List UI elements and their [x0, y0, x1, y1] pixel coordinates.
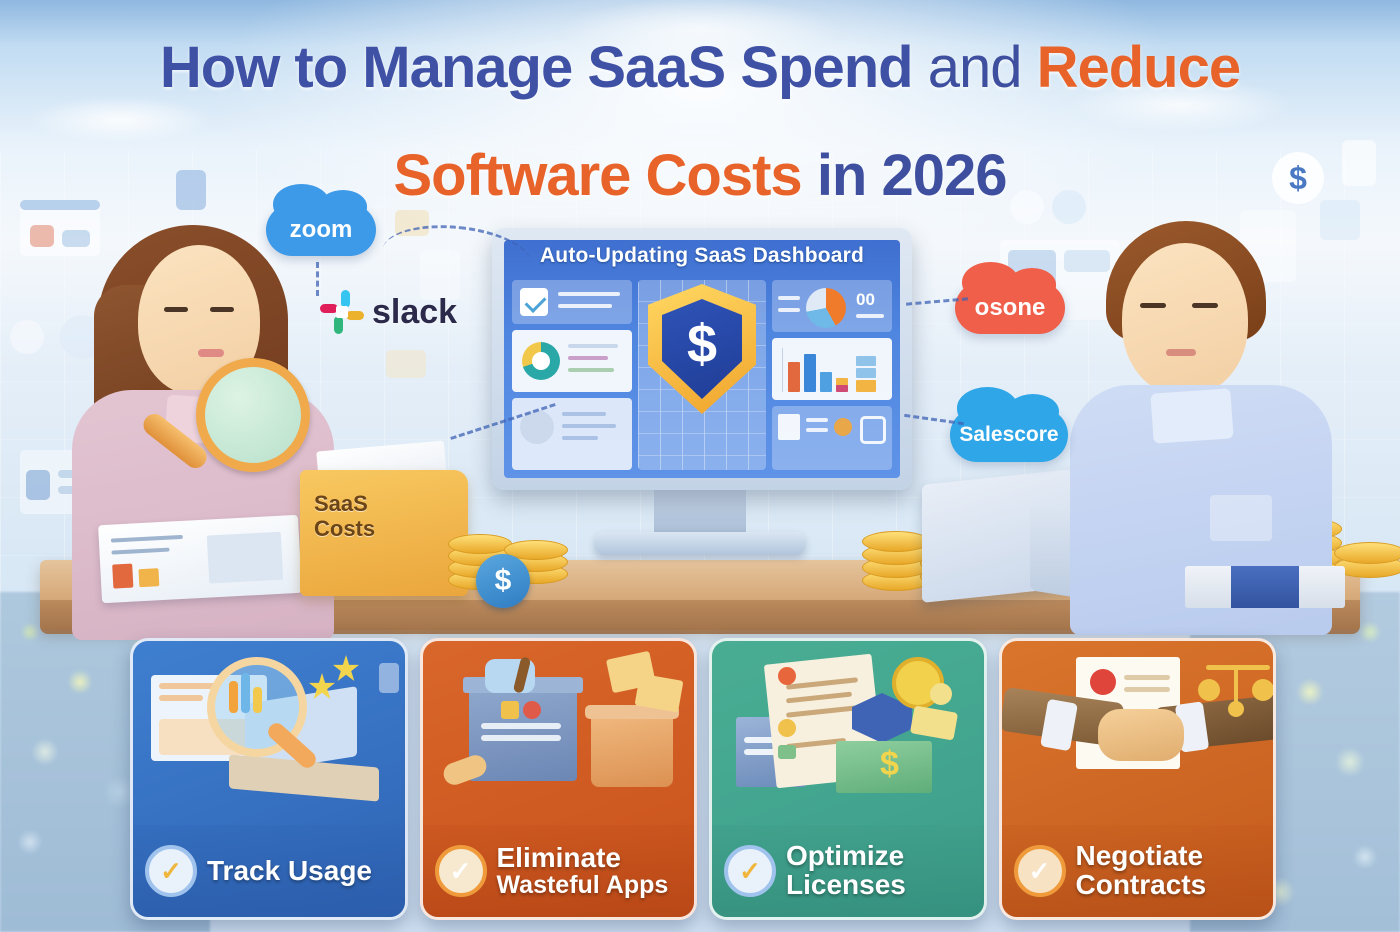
card-eliminate-art	[423, 641, 695, 831]
man-collar	[1150, 388, 1233, 443]
card-optimize-caption: ✓ Optimize Licenses	[712, 825, 984, 917]
title-line2-rest: in 2026	[817, 143, 1007, 208]
monitor-base	[595, 532, 805, 554]
title-line1-accent: Reduce	[1037, 35, 1241, 100]
card-negotiate-label: Negotiate Contracts	[1076, 842, 1207, 899]
binder-folder	[1185, 566, 1345, 608]
check-icon-4: ✓	[1014, 845, 1066, 897]
connector-zoom-to-slack	[316, 262, 319, 296]
check-icon-1: ✓	[145, 845, 197, 897]
card-negotiate-caption: ✓ Negotiate Contracts	[1002, 825, 1274, 917]
magnifying-glass-icon	[196, 358, 310, 472]
man-shirt-pocket	[1210, 495, 1272, 541]
zoom-cloud-label: zoom	[290, 216, 353, 244]
osone-cloud-label: osone	[975, 294, 1046, 322]
tips-card-row: ✓ Track Usage	[130, 638, 1276, 920]
infographic-canvas: $ How to Manage SaaS Spend and Reduce So…	[0, 0, 1400, 932]
shield-dollar-symbol: $	[662, 299, 742, 399]
card-track-usage-caption: ✓ Track Usage	[133, 825, 405, 917]
check-icon-2: ✓	[435, 845, 487, 897]
page-title: How to Manage SaaS Spend and Reduce Soft…	[0, 26, 1400, 218]
card-track-usage[interactable]: ✓ Track Usage	[130, 638, 408, 920]
folder-label-line1: SaaS	[314, 492, 410, 517]
slack-chip[interactable]: slack	[320, 290, 457, 334]
monitor-screen: Auto-Updating SaaS Dashboard	[504, 240, 900, 478]
folder-label: SaaS Costs	[314, 492, 410, 541]
dashboard-widget-pie[interactable]: 00	[772, 280, 892, 332]
analyst-man	[1060, 215, 1340, 615]
dashboard-widget-barchart[interactable]	[772, 338, 892, 400]
card-eliminate-label: Eliminate Wasteful Apps	[497, 844, 669, 898]
dashboard-title: Auto-Updating SaaS Dashboard	[504, 244, 900, 268]
card-track-usage-art	[133, 641, 405, 831]
desktop-monitor: Auto-Updating SaaS Dashboard	[492, 228, 912, 490]
saas-costs-folder: SaaS Costs	[300, 470, 468, 596]
salescore-cloud-chip[interactable]: Salescore	[950, 408, 1068, 462]
dashboard-left-column	[512, 280, 632, 470]
card-negotiate-art	[1002, 641, 1274, 831]
dashboard-widget-donut[interactable]	[512, 330, 632, 392]
monitor-stand	[654, 486, 746, 534]
dollar-coin-badge: $	[476, 554, 530, 608]
card-track-usage-label: Track Usage	[207, 857, 372, 886]
dashboard-widget-checklist[interactable]	[512, 280, 632, 324]
dashboard-widget-network[interactable]	[512, 398, 632, 470]
title-line1-and: and	[928, 35, 1037, 100]
card-eliminate-wasteful-apps[interactable]: ✓ Eliminate Wasteful Apps	[420, 638, 698, 920]
card-negotiate-contracts[interactable]: ✓ Negotiate Contracts	[999, 638, 1277, 920]
title-line2-accent: Software Costs	[393, 143, 816, 208]
dashboard-kpi-value: 00	[856, 290, 875, 310]
card-optimize-art: $	[712, 641, 984, 831]
card-eliminate-caption: ✓ Eliminate Wasteful Apps	[423, 825, 695, 917]
paper-reports-stack	[98, 515, 302, 603]
osone-cloud-chip[interactable]: osone	[955, 282, 1065, 334]
folder-label-line2: Costs	[314, 517, 410, 542]
zoom-cloud-chip[interactable]: zoom	[266, 204, 376, 256]
dashboard-widget-tools[interactable]	[772, 406, 892, 470]
slack-label: slack	[372, 293, 457, 332]
card-optimize-label: Optimize Licenses	[786, 842, 906, 899]
dashboard-right-column: 00	[772, 280, 892, 470]
salescore-cloud-label: Salescore	[959, 423, 1058, 447]
man-head	[1122, 243, 1248, 395]
card-optimize-licenses[interactable]: $ ✓ Optimize Licenses	[709, 638, 987, 920]
slack-icon	[320, 290, 364, 334]
check-icon-3: ✓	[724, 845, 776, 897]
title-line1-main: How to Manage SaaS Spend	[160, 35, 928, 100]
